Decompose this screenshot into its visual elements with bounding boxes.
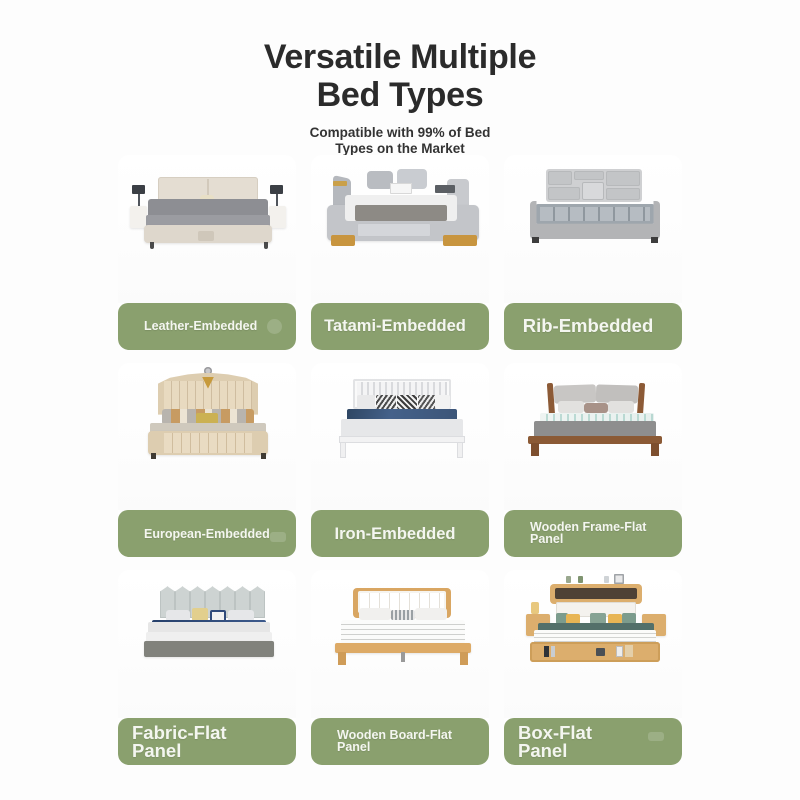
label-text: Wooden Frame-Flat Panel	[530, 522, 646, 545]
label-text: European-Embedded	[144, 528, 270, 541]
watermark-blob	[648, 732, 664, 741]
label-text: Fabric-Flat Panel	[132, 724, 227, 758]
bed-card-leather-embedded[interactable]: Leather-Embedded	[118, 155, 296, 350]
label-text: Leather-Embedded	[144, 320, 257, 333]
tatami-embedded-bed-image	[311, 155, 489, 303]
bed-types-infographic: Versatile Multiple Bed Types Compatible …	[0, 0, 800, 800]
bed-card-label: Fabric-Flat Panel	[118, 718, 296, 765]
box-flat-panel-bed-image	[504, 570, 682, 718]
bed-card-box-flat-panel[interactable]: Box-Flat Panel	[504, 570, 682, 765]
bed-type-grid: Leather-Embedded Tatami-Embedded	[118, 155, 682, 765]
bed-card-label: Rib-Embedded	[504, 303, 682, 350]
bed-card-rib-embedded[interactable]: Rib-Embedded	[504, 155, 682, 350]
bed-card-tatami-embedded[interactable]: Tatami-Embedded	[311, 155, 489, 350]
bed-card-wooden-frame-flat-panel[interactable]: Wooden Frame-Flat Panel	[504, 363, 682, 558]
label-text: Wooden Board-Flat Panel	[337, 730, 452, 753]
bed-card-label: Tatami-Embedded	[311, 303, 489, 350]
bed-card-label: Iron-Embedded	[311, 510, 489, 557]
wooden-frame-flat-panel-bed-image	[504, 363, 682, 511]
bed-card-label: Box-Flat Panel	[504, 718, 682, 765]
watermark-blob	[270, 532, 286, 542]
fabric-flat-panel-bed-image	[118, 570, 296, 718]
iron-embedded-bed-image	[311, 363, 489, 511]
wooden-board-flat-panel-bed-image	[311, 570, 489, 718]
label-text: Tatami-Embedded	[324, 318, 466, 335]
page-title: Versatile Multiple Bed Types	[0, 38, 800, 114]
watermark-blob	[267, 319, 282, 334]
label-text: Box-Flat Panel	[518, 724, 592, 758]
label-text: Iron-Embedded	[334, 526, 455, 543]
bed-card-label: European-Embedded	[118, 510, 296, 557]
bed-card-european-embedded[interactable]: European-Embedded	[118, 363, 296, 558]
label-text: Rib-Embedded	[523, 317, 654, 336]
header: Versatile Multiple Bed Types Compatible …	[0, 38, 800, 157]
european-embedded-bed-image	[118, 363, 296, 511]
leather-embedded-bed-image	[118, 155, 296, 303]
bed-card-label: Wooden Board-Flat Panel	[311, 718, 489, 765]
bed-card-iron-embedded[interactable]: Iron-Embedded	[311, 363, 489, 558]
bed-card-label: Leather-Embedded	[118, 303, 296, 350]
bed-card-label: Wooden Frame-Flat Panel	[504, 510, 682, 557]
bed-card-fabric-flat-panel[interactable]: Fabric-Flat Panel	[118, 570, 296, 765]
rib-embedded-bed-image	[504, 155, 682, 303]
page-subtitle: Compatible with 99% of Bed Types on the …	[0, 125, 800, 157]
bed-card-wooden-board-flat-panel[interactable]: Wooden Board-Flat Panel	[311, 570, 489, 765]
